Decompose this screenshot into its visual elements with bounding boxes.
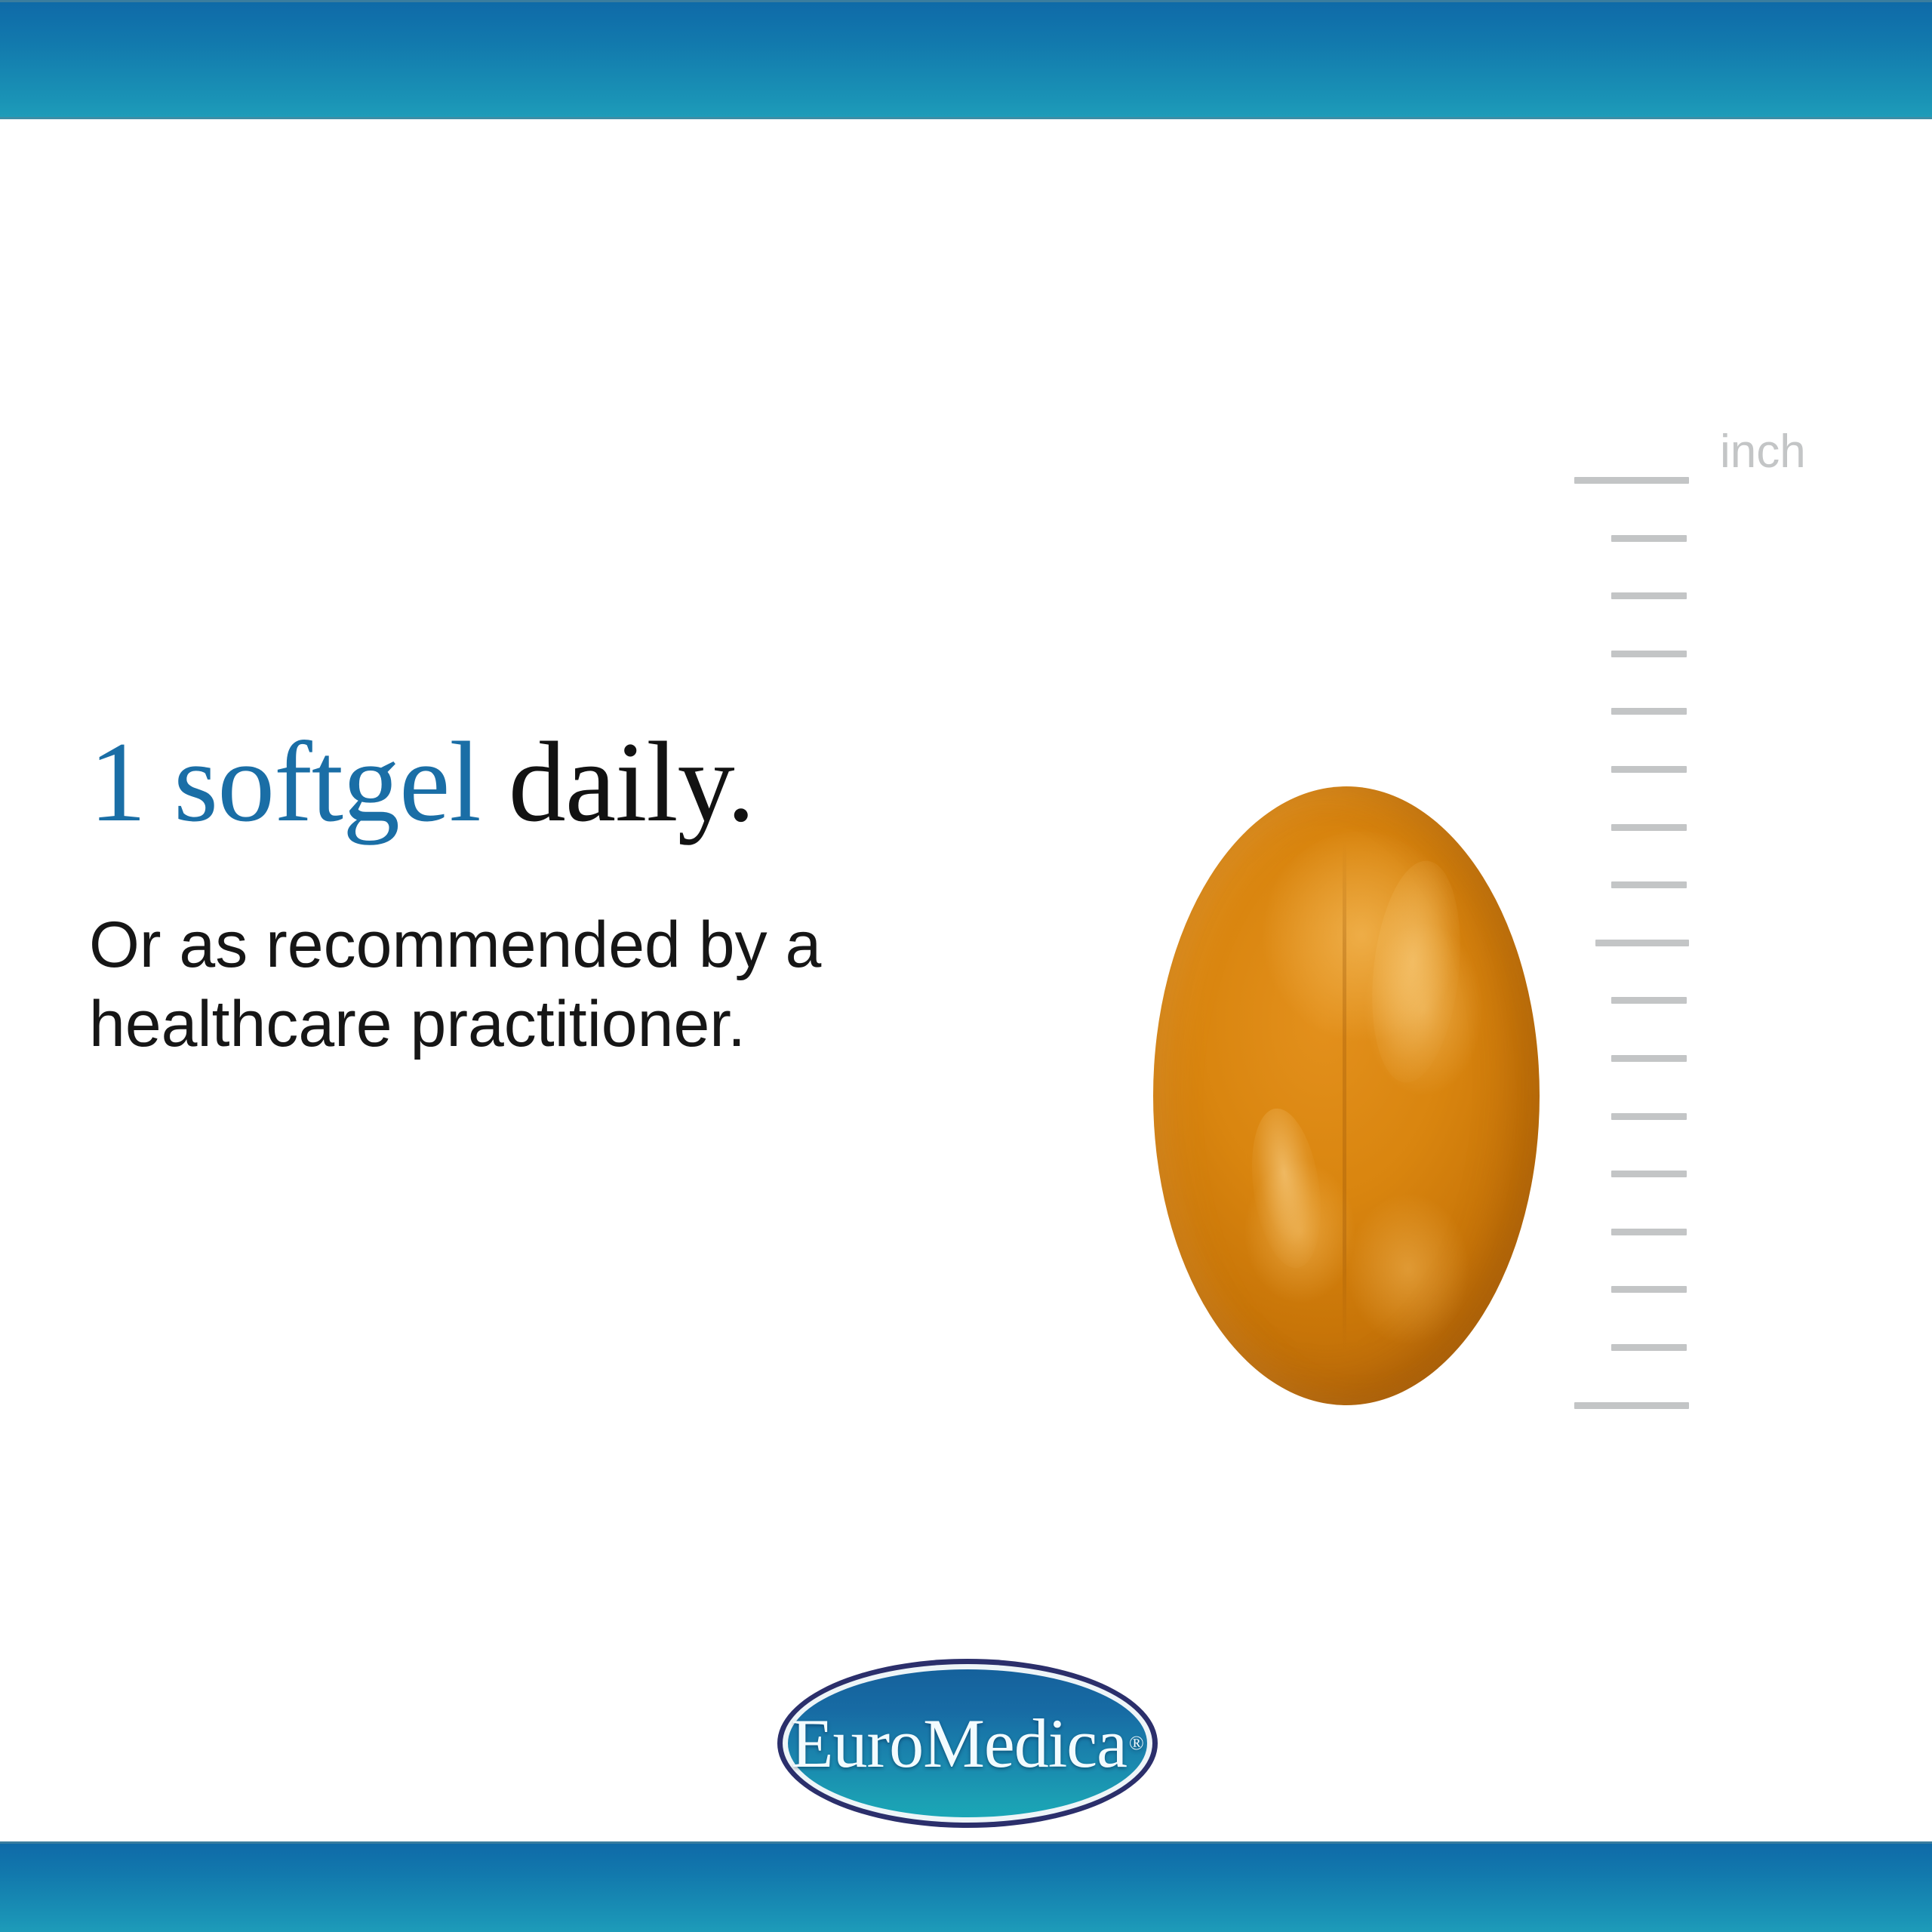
top-brand-bar bbox=[0, 0, 1932, 119]
ruler-tick-minor-9 bbox=[1611, 997, 1687, 1004]
registered-trademark-icon: ® bbox=[1129, 1732, 1144, 1755]
ruler-tick-minor-11 bbox=[1611, 1113, 1687, 1120]
ruler-tick-minor-1 bbox=[1611, 535, 1687, 542]
ruler-tick-minor-3 bbox=[1611, 651, 1687, 657]
capsule-highlight-upper-right bbox=[1362, 857, 1470, 1087]
ruler-tick-major-16 bbox=[1574, 1402, 1689, 1409]
softgel-capsule-body bbox=[1153, 786, 1540, 1405]
ruler-tick-minor-6 bbox=[1611, 824, 1687, 831]
bottom-brand-bar bbox=[0, 1841, 1932, 1932]
headline-space bbox=[481, 718, 509, 845]
dosage-info-card: 1 softgel daily. Or as recommended by a … bbox=[0, 0, 1932, 1932]
logo-wordmark: EuroMedica® bbox=[788, 1669, 1147, 1817]
ruler-tick-mid-8 bbox=[1595, 940, 1689, 946]
capsule-highlight-lower-left bbox=[1243, 1104, 1331, 1272]
ruler-tick-minor-7 bbox=[1611, 881, 1687, 888]
ruler-tick-major-0 bbox=[1574, 477, 1689, 484]
euromedica-logo: EuroMedica® bbox=[777, 1659, 1158, 1828]
inch-scale-ruler: inch bbox=[1574, 453, 1801, 1426]
ruler-unit-label: inch bbox=[1720, 429, 1806, 475]
ruler-tick-minor-4 bbox=[1611, 708, 1687, 715]
subtitle-line-2: healthcare practitioner. bbox=[89, 985, 904, 1064]
capsule-seam bbox=[1343, 842, 1346, 1349]
headline-plain-text: daily. bbox=[509, 718, 755, 845]
ruler-tick-minor-2 bbox=[1611, 592, 1687, 599]
logo-brand-name: EuroMedica bbox=[791, 1703, 1127, 1783]
ruler-tick-minor-10 bbox=[1611, 1055, 1687, 1062]
ruler-tick-minor-12 bbox=[1611, 1171, 1687, 1177]
ruler-tick-minor-15 bbox=[1611, 1344, 1687, 1351]
ruler-tick-minor-13 bbox=[1611, 1229, 1687, 1235]
ruler-tick-minor-14 bbox=[1611, 1286, 1687, 1293]
softgel-capsule-image bbox=[1153, 786, 1540, 1405]
headline-accent-text: 1 softgel bbox=[89, 718, 481, 845]
page-title: 1 softgel daily. bbox=[89, 724, 755, 839]
dosage-subtitle: Or as recommended by a healthcare practi… bbox=[89, 906, 904, 1064]
subtitle-line-1: Or as recommended by a bbox=[89, 906, 904, 985]
ruler-tick-minor-5 bbox=[1611, 766, 1687, 773]
